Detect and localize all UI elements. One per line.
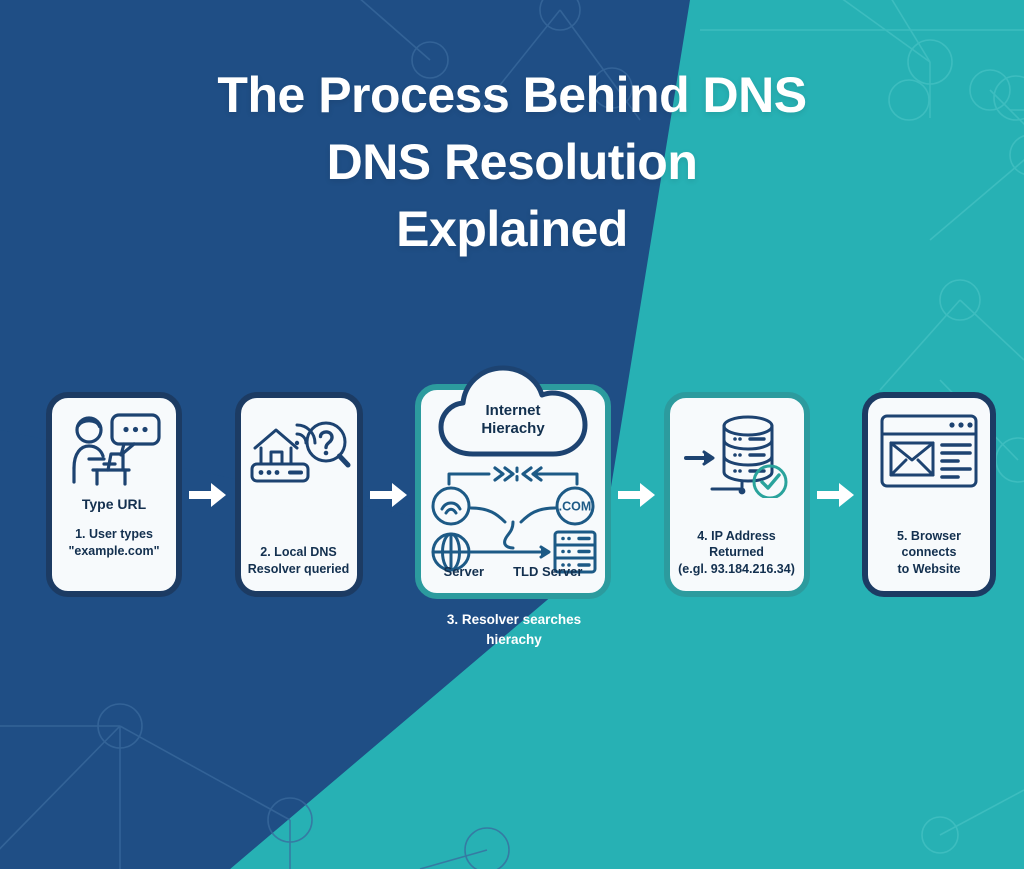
step-card-2[interactable]: 2. Local DNS Resolver queried: [235, 392, 363, 597]
step-3-external-caption: 3. Resolver searches hierachy: [408, 610, 620, 649]
step-4-caption: 4. IP Address Returned (e.gl. 93.184.216…: [670, 528, 804, 578]
database-stack-with-check-icon: [682, 412, 792, 498]
node-label-server: Server: [444, 564, 484, 579]
step-card-5[interactable]: 5. Browser connects to Website: [862, 392, 996, 597]
dns-hierarchy-diagram-icon: .COM: [427, 466, 599, 579]
arrow-step1-to-step2: [182, 392, 235, 597]
step-5-caption: 5. Browser connects to Website: [868, 528, 990, 578]
arrow-step3-to-step4: [611, 392, 664, 597]
step-2-caption: 2. Local DNS Resolver queried: [244, 544, 353, 577]
node-label-tld-server: TLD Server: [513, 564, 582, 579]
step-1-caption: 1. User types "example.com": [64, 526, 163, 559]
step-card-3[interactable]: Internet Hierachy: [415, 384, 611, 599]
dns-infographic: The Process Behind DNS DNS Resolution Ex…: [0, 0, 1024, 869]
browser-window-envelope-icon: [878, 412, 980, 490]
step-1-heading: Type URL: [82, 496, 146, 512]
internet-hierarchy-cloud-icon: Internet Hierachy: [429, 356, 597, 465]
arrow-step2-to-step3: [363, 392, 416, 597]
svg-text:.COM: .COM: [559, 500, 592, 514]
process-flow: Type URL 1. User types "example.com": [0, 392, 1024, 607]
step-card-1[interactable]: Type URL 1. User types "example.com": [46, 392, 182, 597]
hierarchy-node-labels: Server TLD Server: [421, 564, 605, 579]
home-router-wifi-magnifier-question-icon: [247, 412, 351, 492]
arrow-step4-to-step5: [810, 392, 863, 597]
step-card-4[interactable]: 4. IP Address Returned (e.gl. 93.184.216…: [664, 392, 810, 597]
person-at-desk-with-speech-bubble-icon: [66, 412, 162, 490]
